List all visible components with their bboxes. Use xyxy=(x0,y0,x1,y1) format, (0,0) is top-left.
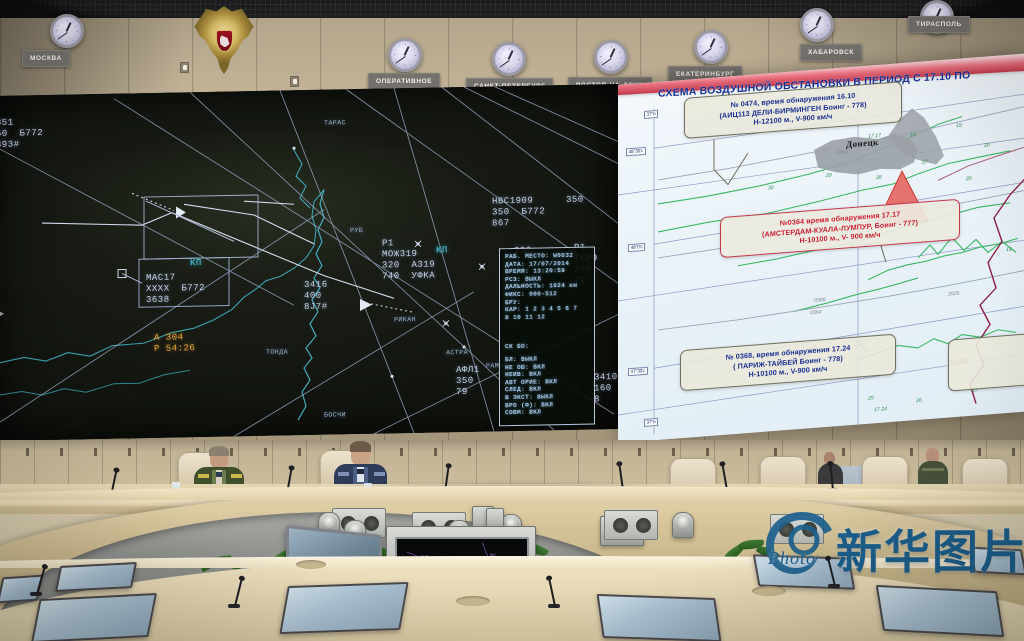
clock-operational xyxy=(388,38,422,72)
clock-yekaterinburg xyxy=(694,30,728,64)
track-number-18: 18 xyxy=(910,132,916,138)
radar-label-p1-mox: P1 MOЖ319 320 A319 740 УФКА xyxy=(382,238,435,283)
track-number-25: 25 xyxy=(868,395,874,401)
radar-status-panel: РАБ. МЕСТО: W0032 ДАТА: 17/07/2014 ВРЕМЯ… xyxy=(499,246,595,426)
foreground-desk-edge xyxy=(0,556,1024,568)
wall-hook-row xyxy=(0,448,1024,456)
radar-label-kp-1: КП xyxy=(190,258,202,269)
radar-display-screen: A351 350 Б772 8393# КП MAC17 XXXX Б772 3… xyxy=(0,84,619,441)
radar-label-a304: A 304 P 54:26 xyxy=(154,332,195,355)
radar-waypoint-rikan: РИКАН xyxy=(394,316,416,324)
radar-label-afl1: АФЛ1 350 79 xyxy=(456,365,480,398)
track-number-19a: 19 xyxy=(956,123,962,129)
radar-waypoint-tapac: ТАРАС xyxy=(324,119,346,127)
radar-label-350: 350 xyxy=(566,195,584,206)
cable-grommet-1 xyxy=(456,596,490,606)
wall-switch-left[interactable] xyxy=(180,62,189,73)
clock-label-khabarovsk: ХАБАРОВСК xyxy=(800,44,862,61)
radar-label-3416: 3416 400 8J7# xyxy=(304,280,328,313)
clock-rostov-on-don xyxy=(594,40,628,74)
track-number-0364: 0364 xyxy=(810,309,822,316)
cable-grommet-3 xyxy=(296,560,326,569)
track-number-30: 30 xyxy=(768,185,774,191)
shoulder-board-right xyxy=(374,472,385,476)
clock-saint-petersburg xyxy=(492,42,526,76)
radar-waypoint-rub: РУБ xyxy=(350,227,363,235)
shoulder-board-left xyxy=(198,474,209,478)
wall-switch-right[interactable] xyxy=(290,76,299,87)
cable-grommet-2 xyxy=(752,586,786,596)
desk-display-4[interactable] xyxy=(876,585,1005,637)
radar-waypoint-astra: АСТРА xyxy=(446,349,468,357)
callout-350-partial xyxy=(948,333,1024,392)
radar-waypoint-tonda: ТОНДА xyxy=(266,348,288,356)
radar-label-3410: 3410 160 8 xyxy=(594,372,618,405)
track-number-27a: 27 xyxy=(922,159,928,165)
desk-display-1[interactable] xyxy=(31,593,157,641)
track-number-26a: 26 xyxy=(966,176,972,182)
desk-display-3[interactable] xyxy=(597,594,722,641)
track-number-19b: 19 xyxy=(1006,247,1012,253)
grid-label-37e-top: 37°в xyxy=(644,110,658,119)
track-number-20: 20 xyxy=(984,142,990,148)
track-number-0363: 0363 xyxy=(836,149,848,156)
track-number-3505: 3505 xyxy=(948,291,960,298)
ptz-camera-5[interactable] xyxy=(672,512,694,538)
speaker-unit-3 xyxy=(604,510,658,540)
radar-waypoint-bosvu: БОСЧИ xyxy=(324,411,346,419)
shoulder-board-left xyxy=(338,472,349,476)
screenshot-root: МОСКВА ОПЕРАТИВНОЕ САНКТ-ПЕТЕРБУРГ РОСТО… xyxy=(0,0,1024,641)
radar-label-kp-2: КП xyxy=(436,245,448,256)
grid-label-48-30n: 48°30'с xyxy=(626,147,646,157)
status-row-kar: КАР: 1 2 3 4 5 6 7 xyxy=(505,305,589,314)
track-number-1717: 17 17 xyxy=(868,133,881,140)
grid-label-48-0n: 48°0'с xyxy=(628,243,645,252)
desk-display-2[interactable] xyxy=(279,582,408,634)
status-row-sovm: СОВМ: ВКЛ xyxy=(505,408,589,417)
radar-label-mas17: MAC17 XXXX Б772 3638 xyxy=(146,272,205,306)
speaker-unit-4 xyxy=(770,514,824,544)
grid-label-47-30n: 47°30'с xyxy=(628,367,648,377)
russian-coat-of-arms-emblem xyxy=(192,6,256,74)
clock-label-tiraspol: ТИРАСПОЛЬ xyxy=(908,16,970,33)
desk-display-7[interactable] xyxy=(55,562,137,592)
grid-label-37e-bottom: 37°в xyxy=(644,418,658,427)
clock-moscow xyxy=(50,14,84,48)
track-number-29: 29 xyxy=(826,173,832,179)
track-number-0368: 0368 xyxy=(814,297,826,304)
shoulder-board-right xyxy=(231,474,242,478)
track-number-26b: 26 xyxy=(916,398,922,404)
projection-screen: СХЕМА ВОЗДУШНОЙ ОБСТАНОВКИ В ПЕРИОД С 17… xyxy=(618,53,1024,443)
radar-label-nvc1909: HBC1909 350 Б772 867 xyxy=(492,195,545,229)
track-number-1724: 17 24 xyxy=(874,406,887,413)
desk-display-6[interactable] xyxy=(969,547,1024,576)
clock-label-moscow: МОСКВА xyxy=(22,50,70,67)
clock-khabarovsk xyxy=(800,8,834,42)
radar-label-track-a351: A351 350 Б772 8393# xyxy=(0,117,43,151)
horseshoe-desk-back-edge xyxy=(0,486,1024,500)
track-number-28: 28 xyxy=(876,175,882,181)
